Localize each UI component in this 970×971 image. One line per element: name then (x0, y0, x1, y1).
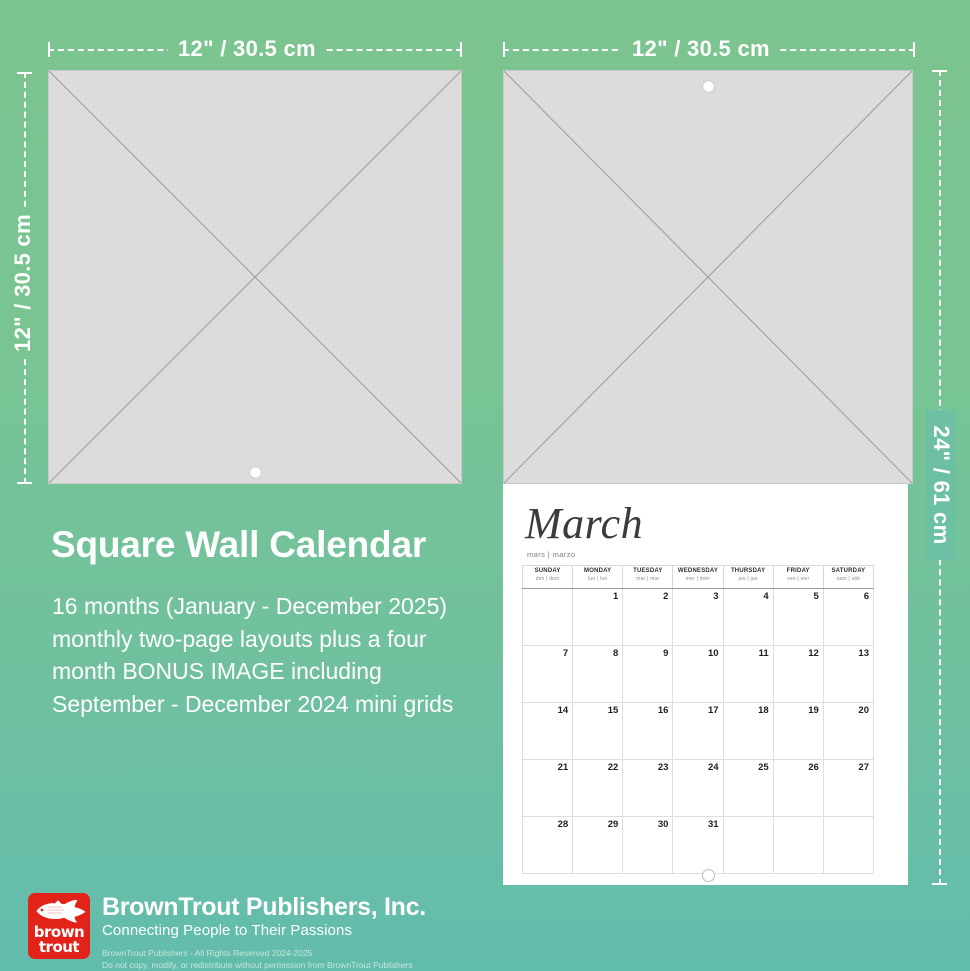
legal-line: Do not copy, modify, or redistribute wit… (102, 959, 426, 971)
browntrout-logo: brown trout (28, 893, 90, 959)
day-header-sub: jeu | jue (724, 576, 773, 582)
day-header-name: SUNDAY (523, 568, 572, 576)
calendar-week-row: 1 2 3 4 5 6 (523, 589, 874, 646)
legal-line: BrownTrout Publishers - All Rights Reser… (102, 947, 426, 959)
day-header-monday: MONDAY lun | lun (573, 566, 623, 589)
product-description: 16 months (January - December 2025) mont… (52, 590, 453, 721)
calendar-cover-image-placeholder (48, 70, 462, 484)
calendar-day-cell: 7 (523, 646, 573, 703)
calendar-day-cell: 3 (673, 589, 723, 646)
calendar-day-cell: 1 (573, 589, 623, 646)
calendar-day-cell: 8 (573, 646, 623, 703)
calendar-day-cell: 27 (823, 760, 873, 817)
day-header-sub: ven | vier (774, 576, 823, 582)
day-header-thursday: THURSDAY jeu | jue (723, 566, 773, 589)
day-header-name: SATURDAY (824, 568, 873, 576)
calendar-day-cell: 21 (523, 760, 573, 817)
company-name: BrownTrout Publishers, Inc. (102, 894, 426, 920)
calendar-day-cell: 30 (623, 817, 673, 874)
calendar-day-cell: 23 (623, 760, 673, 817)
calendar-day-cell: 17 (673, 703, 723, 760)
calendar-day-cell (773, 817, 823, 874)
day-header-sunday: SUNDAY dim | dom (523, 566, 573, 589)
calendar-day-cell: 15 (573, 703, 623, 760)
calendar-day-cell: 25 (723, 760, 773, 817)
calendar-day-cell: 10 (673, 646, 723, 703)
calendar-day-cell: 6 (823, 589, 873, 646)
placeholder-cross-icon (504, 71, 912, 483)
calendar-day-cell: 5 (773, 589, 823, 646)
calendar-day-cell: 9 (623, 646, 673, 703)
day-header-sub: sam | sáb (824, 576, 873, 582)
dimension-endcap-bottom (932, 883, 947, 885)
calendar-day-cell (823, 817, 873, 874)
calendar-top-page-image-placeholder (503, 70, 913, 484)
product-listing-image: 12" / 30.5 cm 12" / 30.5 cm 12" / 30.5 c… (0, 0, 970, 971)
dimension-endcap-top (932, 70, 947, 72)
description-line: monthly two-page layouts plus a four (52, 623, 453, 656)
calendar-day-cell: 14 (523, 703, 573, 760)
calendar-grid: SUNDAY dim | dom MONDAY lun | lun TUESDA… (522, 565, 874, 874)
day-header-tuesday: TUESDAY mar | mar (623, 566, 673, 589)
dimension-label-top-right: 12" / 30.5 cm (622, 36, 780, 62)
day-header-name: TUESDAY (623, 568, 672, 576)
logo-word-trout: trout (28, 938, 90, 956)
calendar-day-cell: 26 (773, 760, 823, 817)
month-translations: mars | marzo (527, 550, 575, 559)
calendar-day-cell: 13 (823, 646, 873, 703)
calendar-day-cell: 16 (623, 703, 673, 760)
calendar-day-cell: 24 (673, 760, 723, 817)
day-header-friday: FRIDAY ven | vier (773, 566, 823, 589)
calendar-day-cell: 12 (773, 646, 823, 703)
calendar-week-row: 21 22 23 24 25 26 27 (523, 760, 874, 817)
calendar-day-cell (523, 589, 573, 646)
dimension-endcap-left (48, 42, 50, 57)
calendar-day-cell: 28 (523, 817, 573, 874)
dimension-endcap-top (17, 72, 32, 74)
day-header-name: THURSDAY (724, 568, 773, 576)
calendar-day-cell: 22 (573, 760, 623, 817)
placeholder-cross-icon (49, 71, 461, 483)
description-line: month BONUS IMAGE including (52, 655, 453, 688)
calendar-day-cell: 11 (723, 646, 773, 703)
dimension-label-left: 12" / 30.5 cm (8, 208, 38, 358)
calendar-header-row: SUNDAY dim | dom MONDAY lun | lun TUESDA… (523, 566, 874, 589)
dimension-endcap-right (460, 42, 462, 57)
day-header-sub: mer | miér (673, 576, 722, 582)
day-header-name: MONDAY (573, 568, 622, 576)
calendar-week-row: 14 15 16 17 18 19 20 (523, 703, 874, 760)
calendar-day-cell (723, 817, 773, 874)
calendar-day-cell: 18 (723, 703, 773, 760)
dimension-endcap-bottom (17, 482, 32, 484)
description-line: September - December 2024 mini grids (52, 688, 453, 721)
calendar-grid-page: March mars | marzo SUNDAY dim | dom MOND… (503, 484, 908, 885)
calendar-week-row: 7 8 9 10 11 12 13 (523, 646, 874, 703)
calendar-day-cell: 2 (623, 589, 673, 646)
page-title: Square Wall Calendar (51, 524, 426, 566)
calendar-day-cell: 31 (673, 817, 723, 874)
company-tagline: Connecting People to Their Passions (102, 920, 426, 943)
hanging-hole (702, 80, 715, 93)
calendar-day-cell: 29 (573, 817, 623, 874)
day-header-name: WEDNESDAY (673, 568, 722, 576)
day-header-name: FRIDAY (774, 568, 823, 576)
calendar-day-cell: 4 (723, 589, 773, 646)
footer: brown trout BrownTrout Publishers, Inc. … (28, 893, 426, 971)
day-header-sub: lun | lun (573, 576, 622, 582)
legal-notice: BrownTrout Publishers - All Rights Reser… (102, 947, 426, 971)
hanging-hole (702, 869, 715, 882)
dimension-label-top-left: 12" / 30.5 cm (168, 36, 326, 62)
calendar-week-row: 28 29 30 31 (523, 817, 874, 874)
calendar-day-cell: 19 (773, 703, 823, 760)
hanging-hole (249, 466, 262, 479)
calendar-day-cell: 20 (823, 703, 873, 760)
day-header-sub: dim | dom (523, 576, 572, 582)
day-header-sub: mar | mar (623, 576, 672, 582)
dimension-label-right: 24" / 61 cm (926, 410, 956, 560)
description-line: 16 months (January - December 2025) (52, 590, 453, 623)
day-header-saturday: SATURDAY sam | sáb (823, 566, 873, 589)
month-title: March (525, 502, 643, 546)
footer-text-block: BrownTrout Publishers, Inc. Connecting P… (102, 893, 426, 971)
dimension-endcap-left (503, 42, 505, 57)
day-header-wednesday: WEDNESDAY mer | miér (673, 566, 723, 589)
trout-fish-icon (28, 895, 90, 925)
dimension-endcap-right (913, 42, 915, 57)
